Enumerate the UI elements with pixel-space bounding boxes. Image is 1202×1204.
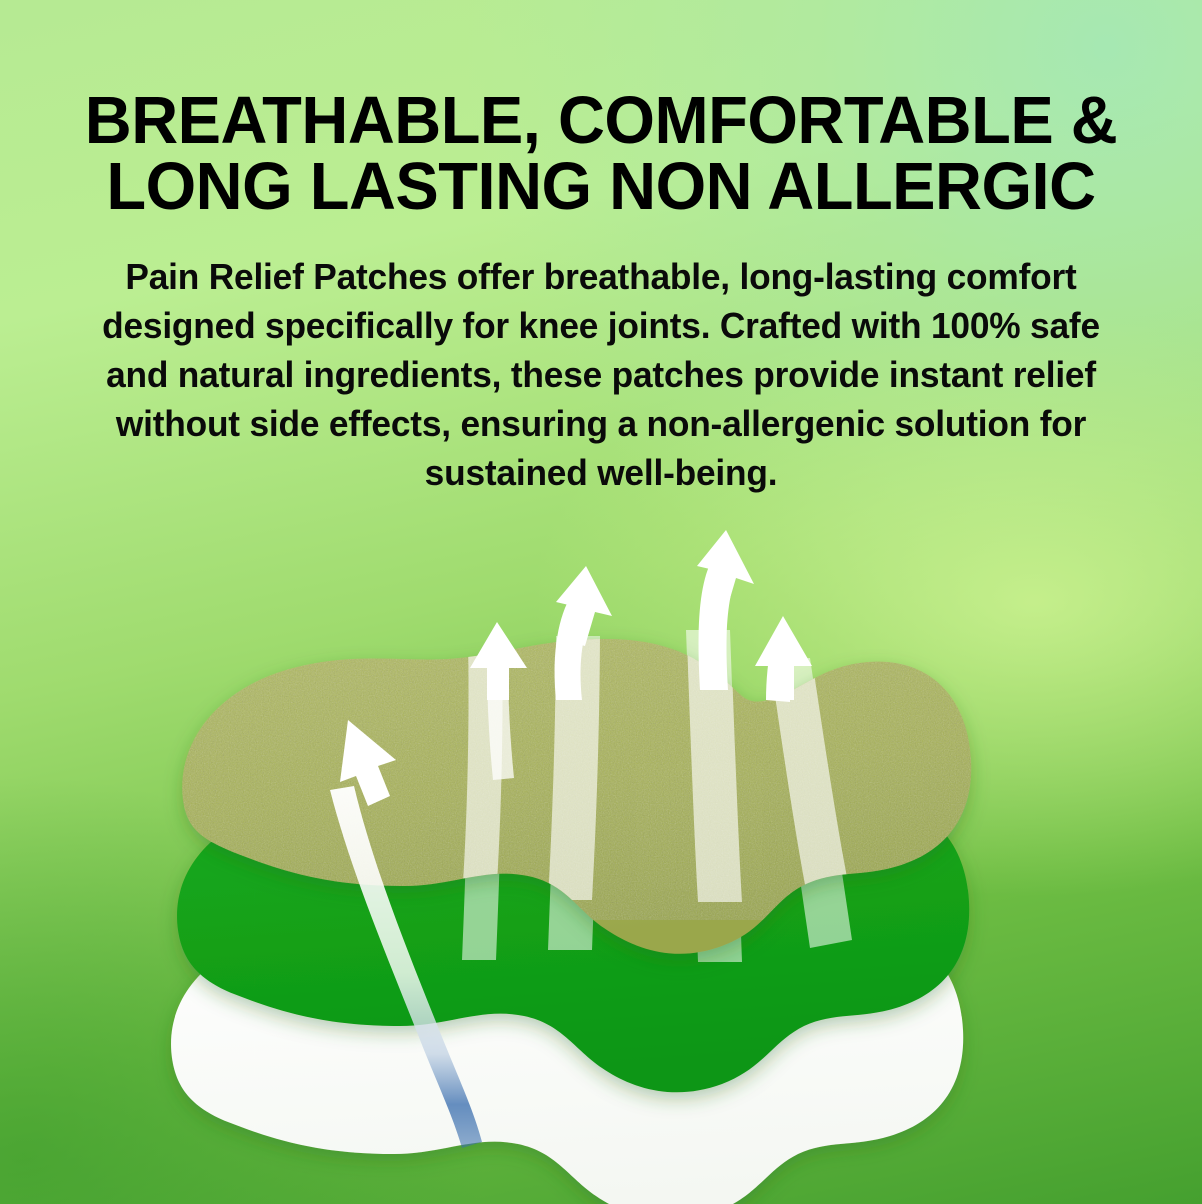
product-feature-card: BREATHABLE, COMFORTABLE & LONG LASTING N… — [0, 0, 1202, 1204]
headline-line-1: BREATHABLE, COMFORTABLE & — [85, 83, 1117, 158]
page-title: BREATHABLE, COMFORTABLE & LONG LASTING N… — [18, 88, 1184, 220]
headline-line-2: LONG LASTING NON ALLERGIC — [63, 154, 1140, 220]
airflow-arrow-3 — [697, 530, 754, 690]
copy-block: BREATHABLE, COMFORTABLE & LONG LASTING N… — [0, 0, 1202, 497]
body-description: Pain Relief Patches offer breathable, lo… — [12, 252, 1190, 497]
